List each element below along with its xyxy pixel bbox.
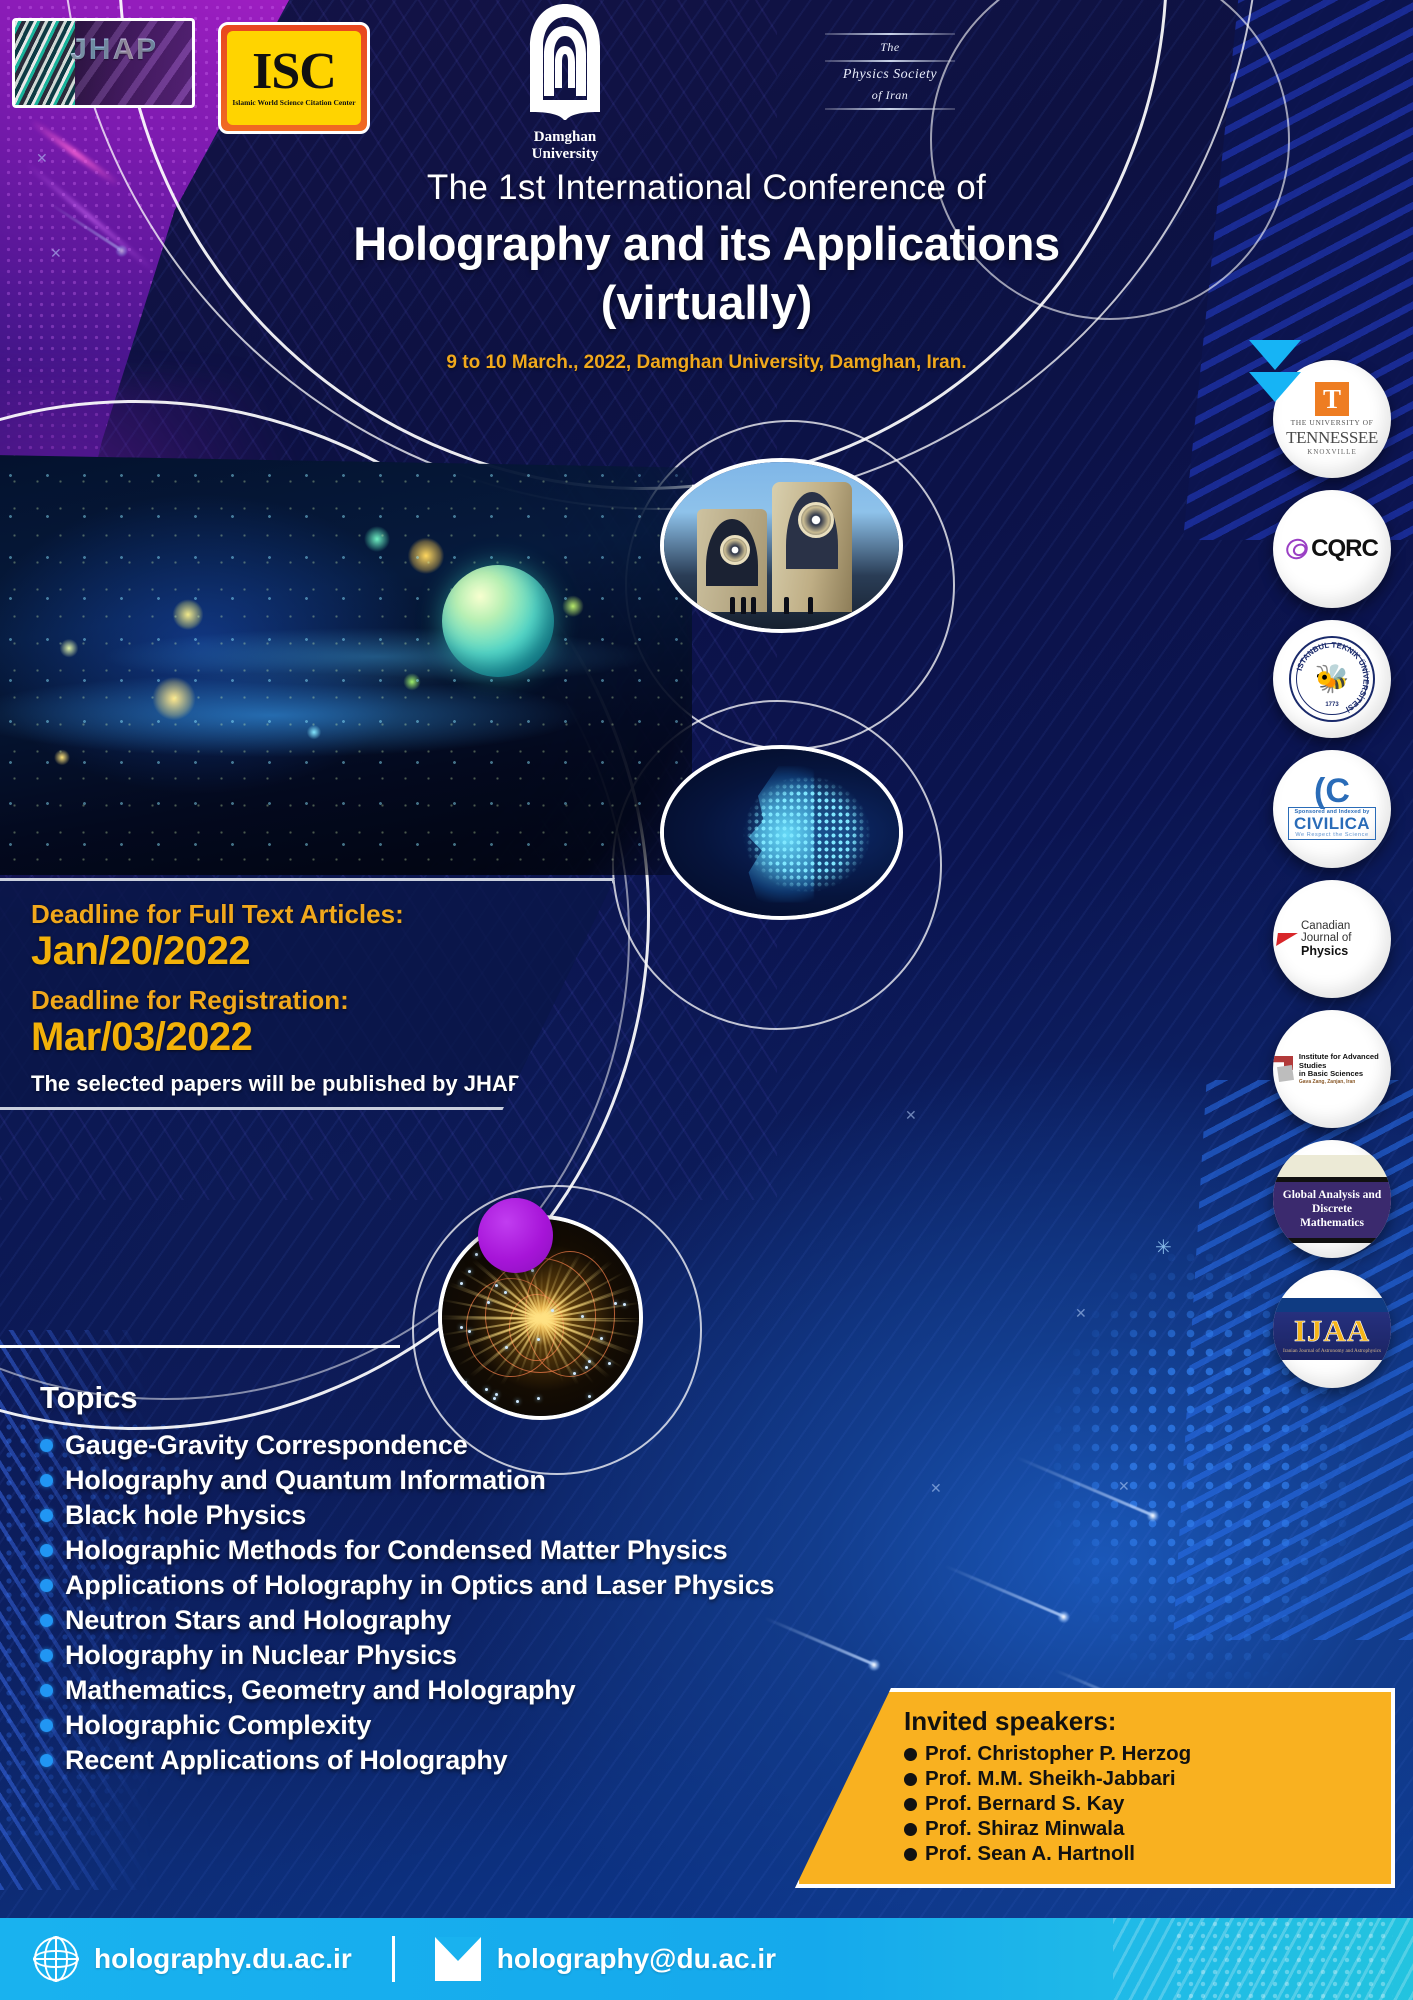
bullet-icon xyxy=(40,1544,53,1557)
topics-section: Topics Gauge-Gravity CorrespondenceHolog… xyxy=(40,1380,774,1780)
purple-accent-circle xyxy=(478,1198,553,1273)
divider xyxy=(825,33,955,35)
utk-line3: KNOXVILLE xyxy=(1307,448,1356,456)
website-url: holography.du.ac.ir xyxy=(94,1943,352,1975)
sponsor-badge-canadian-journal-of-physics[interactable]: Canadian Journal of Physics xyxy=(1273,880,1391,998)
speaker-name: Prof. M.M. Sheikh-Jabbari xyxy=(925,1767,1176,1791)
bullet-icon xyxy=(904,1748,917,1761)
physics-society-line3: of Iran xyxy=(872,88,909,103)
bullet-icon xyxy=(904,1848,917,1861)
topic-item: Holography and Quantum Information xyxy=(40,1465,774,1496)
topics-divider xyxy=(0,1345,400,1348)
sparkle-icon: ✳ xyxy=(1155,1235,1172,1260)
topic-item: Black hole Physics xyxy=(40,1500,774,1531)
sponsor-badge-civilica[interactable]: (C Sponsored and Indexed by CIVILICA We … xyxy=(1273,750,1391,868)
face-particle-dots xyxy=(739,762,880,906)
footer-contact-bar: holography.du.ac.ir holography@du.ac.ir xyxy=(0,1918,1413,2000)
isc-logo-caption: Islamic World Science Citation Center xyxy=(232,98,355,107)
website-item[interactable]: holography.du.ac.ir xyxy=(0,1937,352,1981)
divider xyxy=(825,108,955,110)
topic-label: Neutron Stars and Holography xyxy=(65,1605,451,1636)
conference-date-location: 9 to 10 March., 2022, Damghan University… xyxy=(0,352,1413,374)
bullet-icon xyxy=(40,1474,53,1487)
collision-spark xyxy=(608,1362,611,1365)
jhap-logo-text: JHAP xyxy=(70,33,158,67)
jhap-logo: JHAP xyxy=(12,18,195,108)
bullet-icon xyxy=(40,1614,53,1627)
cqrc-label: CQRC xyxy=(1311,535,1378,563)
invited-speakers-heading: Invited speakers: xyxy=(904,1706,1391,1737)
bullet-icon xyxy=(904,1823,917,1836)
ijaa-cover-top xyxy=(1273,1298,1391,1312)
itu-ring-label: ISTANBUL TEKNIK ÜNİVERSİTESİ xyxy=(1291,638,1373,720)
cosmic-speckle-overlay xyxy=(0,455,692,875)
envelope-icon xyxy=(435,1937,481,1981)
topic-item: Recent Applications of Holography xyxy=(40,1745,774,1776)
sponsor-badge-istanbul-teknik-universitesi[interactable]: 🐝 1773 ISTANBUL TEKNIK ÜNİVERSİTESİ xyxy=(1273,620,1391,738)
topic-item: Neutron Stars and Holography xyxy=(40,1605,774,1636)
damghan-university-label: Damghan University xyxy=(500,129,630,163)
topic-label: Holography in Nuclear Physics xyxy=(65,1640,457,1671)
collision-spark xyxy=(600,1337,603,1340)
topic-label: Black hole Physics xyxy=(65,1500,306,1531)
iasbs-line1: Institute for Advanced Studies xyxy=(1299,1053,1391,1070)
bullet-icon xyxy=(904,1798,917,1811)
utk-t-mark: T xyxy=(1315,382,1349,416)
bullet-icon xyxy=(904,1773,917,1786)
bullet-icon xyxy=(40,1684,53,1697)
bullet-icon xyxy=(40,1719,53,1732)
green-sphere-image xyxy=(442,565,554,677)
physics-society-of-iran-logo: The Physics Society of Iran xyxy=(820,28,960,114)
collision-spark xyxy=(468,1270,471,1273)
cjp-line1: Canadian Journal of xyxy=(1301,920,1391,944)
topic-item: Applications of Holography in Optics and… xyxy=(40,1570,774,1601)
collision-spark xyxy=(475,1253,478,1256)
speaker-item: Prof. Shiraz Minwala xyxy=(904,1817,1391,1841)
divider xyxy=(1273,1238,1391,1243)
gadm-line2: Discrete Mathematics xyxy=(1279,1203,1385,1231)
damghan-university-mark-icon xyxy=(500,0,630,122)
physics-society-line1: The xyxy=(880,40,900,55)
topic-label: Holographic Methods for Condensed Matter… xyxy=(65,1535,728,1566)
speaker-item: Prof. Sean A. Hartnoll xyxy=(904,1842,1391,1866)
ijaa-subtitle: Iranian Journal of Astronomy and Astroph… xyxy=(1277,1348,1387,1354)
bullet-icon xyxy=(40,1579,53,1592)
iasbs-line2: in Basic Sciences xyxy=(1299,1070,1391,1079)
cosmic-hologram-image xyxy=(0,455,692,875)
speaker-name: Prof. Sean A. Hartnoll xyxy=(925,1842,1135,1866)
topic-label: Recent Applications of Holography xyxy=(65,1745,507,1776)
topics-list: Gauge-Gravity CorrespondenceHolography a… xyxy=(40,1430,774,1776)
email-address: holography@du.ac.ir xyxy=(497,1943,776,1975)
registration-deadline-date: Mar/03/2022 xyxy=(31,1016,612,1059)
topic-label: Mathematics, Geometry and Holography xyxy=(65,1675,575,1706)
collision-spark xyxy=(623,1303,626,1306)
divider xyxy=(825,60,955,62)
civilica-c-icon: (C xyxy=(1314,778,1350,805)
utk-line2: TENNESSEE xyxy=(1286,429,1378,446)
speaker-name: Prof. Christopher P. Herzog xyxy=(925,1742,1191,1766)
civilica-tagline: We Respect the Science xyxy=(1294,832,1370,838)
sponsor-badge-global-analysis-discrete-mathematics[interactable]: Global Analysis and Discrete Mathematics xyxy=(1273,1140,1391,1258)
damghan-university-logo: Damghan University xyxy=(500,0,630,150)
collision-spark xyxy=(573,1372,576,1375)
sparkle-icon: ✕ xyxy=(905,1107,917,1124)
itu-seal-icon: 🐝 1773 ISTANBUL TEKNIK ÜNİVERSİTESİ xyxy=(1289,636,1375,722)
isc-logo-letters: ISC xyxy=(252,49,336,96)
collision-ray xyxy=(439,1318,541,1320)
civilica-name: CIVILICA xyxy=(1294,815,1370,832)
topics-heading: Topics xyxy=(40,1380,774,1416)
collision-spark xyxy=(460,1282,463,1285)
university-building-photo xyxy=(660,458,903,633)
sparkle-icon: ✕ xyxy=(930,1480,942,1497)
cqrc-orbit-icon xyxy=(1283,535,1312,563)
topic-item: Mathematics, Geometry and Holography xyxy=(40,1675,774,1706)
conference-poster: ✕ ✕ ✕ ✕ ✕ ✕ ✳ ✳ JHAP ISC Islamic World S… xyxy=(0,0,1413,2000)
footer-dot-pattern xyxy=(1173,1918,1393,2000)
iasbs-line3: Gava Zang, Zanjan, Iran xyxy=(1299,1079,1391,1085)
bullet-icon xyxy=(40,1439,53,1452)
fulltext-deadline-date: Jan/20/2022 xyxy=(31,930,612,973)
conference-title-line2: Holography and its Applications xyxy=(0,216,1413,271)
speaker-item: Prof. Bernard S. Kay xyxy=(904,1792,1391,1816)
cjp-line2: Physics xyxy=(1301,945,1391,958)
sparkle-icon: ✕ xyxy=(1075,1305,1087,1322)
topic-item: Holographic Complexity xyxy=(40,1710,774,1741)
sparkle-icon: ✕ xyxy=(1118,1478,1130,1495)
bullet-icon xyxy=(40,1649,53,1662)
bullet-icon xyxy=(40,1754,53,1767)
topic-item: Holographic Methods for Condensed Matter… xyxy=(40,1535,774,1566)
chevron-down-icon xyxy=(1249,372,1301,402)
sponsor-logo-column: T THE UNIVERSITY OF TENNESSEE KNOXVILLE … xyxy=(1273,360,1393,1400)
ijaa-title: IJAA xyxy=(1277,1317,1387,1346)
speaker-name: Prof. Bernard S. Kay xyxy=(925,1792,1124,1816)
cjp-flag-icon xyxy=(1276,933,1298,946)
email-item[interactable]: holography@du.ac.ir xyxy=(435,1937,776,1981)
rosette-window-icon xyxy=(798,502,834,538)
header-logo-bar: JHAP ISC Islamic World Science Citation … xyxy=(0,0,1413,165)
utk-line1: THE UNIVERSITY OF xyxy=(1291,418,1374,427)
collision-spark xyxy=(585,1366,588,1369)
sponsor-badge-ijaa[interactable]: IJAA Iranian Journal of Astronomy and As… xyxy=(1273,1270,1391,1388)
speaker-item: Prof. Christopher P. Herzog xyxy=(904,1742,1391,1766)
fulltext-deadline-label: Deadline for Full Text Articles: xyxy=(31,899,612,930)
title-block: The 1st International Conference of Holo… xyxy=(0,168,1413,374)
building-people xyxy=(720,594,842,614)
bullet-icon xyxy=(40,1509,53,1522)
conference-title-line3: (virtually) xyxy=(0,275,1413,330)
sponsor-badge-cqrc[interactable]: CQRC xyxy=(1273,490,1391,608)
collision-spark xyxy=(504,1291,507,1294)
divider xyxy=(392,1936,395,1982)
registration-deadline-label: Deadline for Registration: xyxy=(31,985,612,1016)
physics-society-line2: Physics Society xyxy=(843,67,937,83)
isc-logo: ISC Islamic World Science Citation Cente… xyxy=(218,22,370,134)
speaker-item: Prof. M.M. Sheikh-Jabbari xyxy=(904,1767,1391,1791)
gadm-line1: Global Analysis and xyxy=(1279,1189,1385,1203)
collision-spark xyxy=(581,1315,584,1318)
jhap-rainbow-stripes xyxy=(15,21,75,105)
gadm-cover-top xyxy=(1273,1155,1391,1177)
topic-label: Applications of Holography in Optics and… xyxy=(65,1570,774,1601)
digital-face-photo xyxy=(660,745,903,920)
topic-label: Holography and Quantum Information xyxy=(65,1465,546,1496)
globe-icon xyxy=(34,1937,78,1981)
collision-spark xyxy=(495,1284,498,1287)
topic-label: Holographic Complexity xyxy=(65,1710,371,1741)
invited-speakers-panel: Invited speakers: Prof. Christopher P. H… xyxy=(795,1688,1395,1888)
topic-item: Gauge-Gravity Correspondence xyxy=(40,1430,774,1461)
collision-spark xyxy=(460,1326,463,1329)
topic-item: Holography in Nuclear Physics xyxy=(40,1640,774,1671)
speaker-name: Prof. Shiraz Minwala xyxy=(925,1817,1124,1841)
topic-label: Gauge-Gravity Correspondence xyxy=(65,1430,468,1461)
collision-spark xyxy=(537,1338,540,1341)
invited-speakers-list: Prof. Christopher P. HerzogProf. M.M. Sh… xyxy=(904,1742,1391,1866)
svg-text:ISTANBUL TEKNIK ÜNİVERSİTESİ: ISTANBUL TEKNIK ÜNİVERSİTESİ xyxy=(1295,640,1371,713)
sponsor-badge-iasbs[interactable]: Institute for Advanced Studies in Basic … xyxy=(1273,1010,1391,1128)
conference-title-line1: The 1st International Conference of xyxy=(0,168,1413,208)
iasbs-mark-icon xyxy=(1273,1056,1295,1082)
